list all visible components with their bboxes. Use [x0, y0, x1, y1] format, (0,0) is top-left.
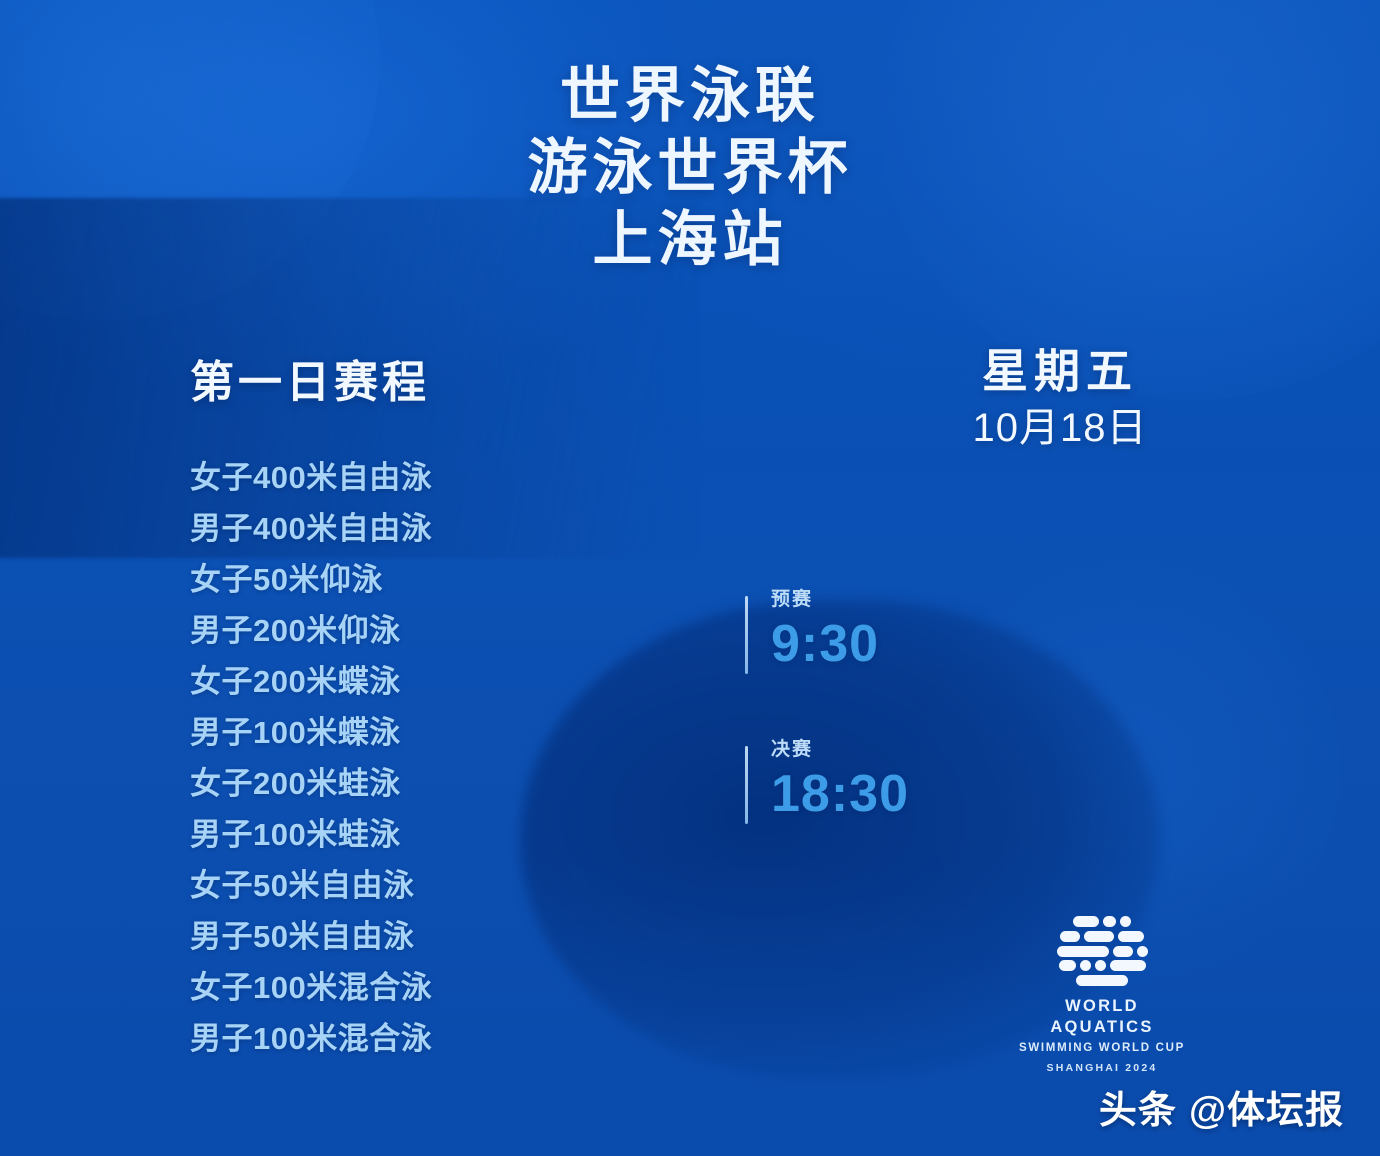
list-item: 女子50米仰泳 [190, 554, 432, 605]
world-aquatics-mark-icon [1050, 916, 1154, 986]
list-item: 女子400米自由泳 [190, 452, 432, 503]
list-item: 男子100米混合泳 [190, 1013, 432, 1064]
logo-pill-row [1060, 931, 1144, 942]
poster-content: 世界泳联 游泳世界杯 上海站 第一日赛程 女子400米自由泳 男子400米自由泳… [0, 0, 1380, 1156]
list-item: 女子200米蛙泳 [190, 758, 432, 809]
logo-pill-row [1057, 946, 1148, 957]
session-finals-body: 决赛 18:30 [745, 740, 909, 820]
session-rule-icon [745, 596, 748, 674]
list-item: 男子400米自由泳 [190, 503, 432, 554]
schedule-heading: 第一日赛程 [190, 346, 430, 410]
session-rule-icon [745, 746, 748, 824]
date-day: 10月18日 [880, 402, 1240, 454]
watermark-handle: @体坛报 [1189, 1079, 1344, 1134]
logo-event: SWIMMING WORLD CUP [1012, 1040, 1192, 1056]
session-heats: 预赛 9:30 [745, 590, 879, 670]
logo-pill-row [1073, 916, 1131, 927]
logo-city: SHANGHAI 2024 [1012, 1061, 1192, 1076]
poster-root: 世界泳联 游泳世界杯 上海站 第一日赛程 女子400米自由泳 男子400米自由泳… [0, 0, 1380, 1156]
watermark: 头条 @体坛报 [1099, 1079, 1344, 1134]
world-aquatics-logo: WORLD AQUATICS SWIMMING WORLD CUP SHANGH… [1012, 916, 1192, 1076]
title-line-1: 世界泳联 [0, 60, 1380, 132]
session-finals-label: 决赛 [771, 740, 909, 759]
session-heats-body: 预赛 9:30 [745, 590, 879, 670]
title-line-3: 上海站 [0, 204, 1380, 276]
session-finals: 决赛 18:30 [745, 740, 909, 820]
session-finals-time: 18:30 [771, 768, 909, 820]
title-line-2: 游泳世界杯 [0, 132, 1380, 204]
logo-name: WORLD AQUATICS [1012, 996, 1192, 1037]
session-heats-label: 预赛 [771, 590, 879, 609]
logo-pill-row [1076, 975, 1128, 986]
logo-pill-row [1059, 960, 1146, 971]
list-item: 男子100米蛙泳 [190, 809, 432, 860]
list-item: 男子100米蝶泳 [190, 707, 432, 758]
date-block: 星期五 10月18日 [880, 346, 1240, 454]
event-list: 女子400米自由泳 男子400米自由泳 女子50米仰泳 男子200米仰泳 女子2… [190, 452, 432, 1064]
poster-title: 世界泳联 游泳世界杯 上海站 [0, 60, 1380, 276]
watermark-brand: 头条 [1099, 1079, 1177, 1134]
session-heats-time: 9:30 [771, 618, 879, 670]
list-item: 男子200米仰泳 [190, 605, 432, 656]
list-item: 男子50米自由泳 [190, 911, 432, 962]
date-weekday: 星期五 [880, 346, 1240, 398]
list-item: 女子100米混合泳 [190, 962, 432, 1013]
list-item: 女子200米蝶泳 [190, 656, 432, 707]
list-item: 女子50米自由泳 [190, 860, 432, 911]
